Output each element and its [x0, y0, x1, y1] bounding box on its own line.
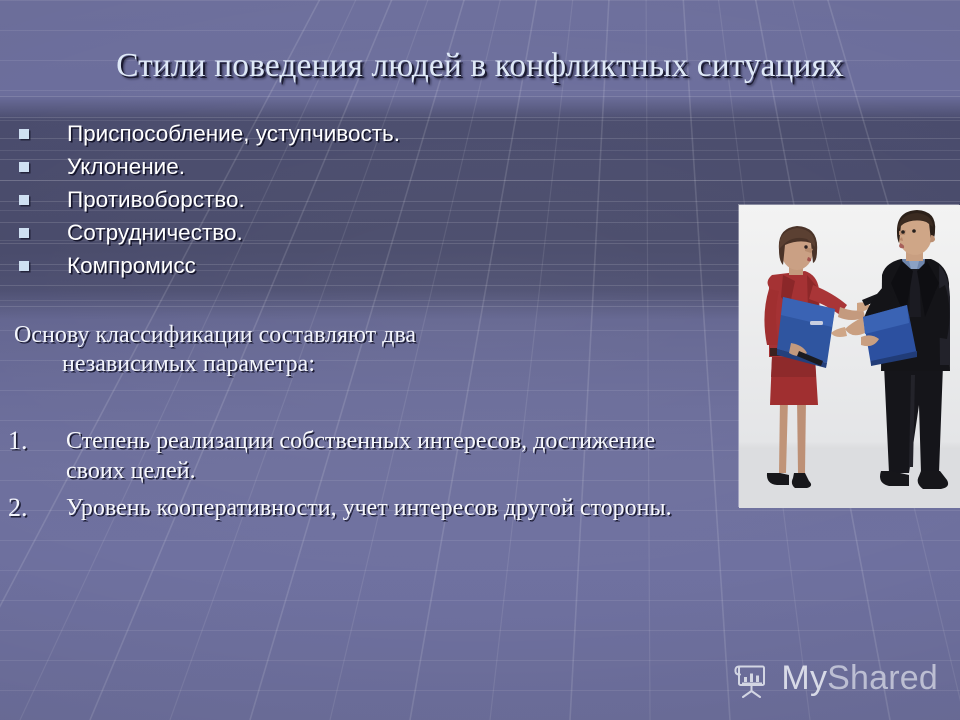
- paragraph-line-1: Основу классификации составляют два: [14, 322, 416, 348]
- list-item-label: Сотрудничество.: [67, 218, 243, 248]
- business-conflict-photo: [739, 205, 960, 508]
- bullet-list: Приспособление, уступчивость. Уклонение.…: [16, 119, 576, 284]
- bullet-square-icon: [19, 129, 29, 139]
- list-item-label: Уровень кооперативности, учет интересов …: [66, 493, 672, 523]
- bullet-square-icon: [19, 195, 29, 205]
- list-item-number: 2.: [8, 493, 66, 523]
- presentation-slide: Стили поведения людей в конфликтных ситу…: [0, 0, 960, 720]
- bullet-square-icon: [19, 261, 29, 271]
- list-item: 2. Уровень кооперативности, учет интерес…: [8, 493, 708, 523]
- page-title: Стили поведения людей в конфликтных ситу…: [0, 46, 960, 86]
- watermark-label: MyShared: [781, 661, 938, 695]
- watermark: MyShared: [732, 658, 938, 698]
- list-item-label: Приспособление, уступчивость.: [67, 119, 400, 149]
- list-item: Уклонение.: [16, 152, 576, 185]
- list-item-label: Противоборство.: [67, 185, 245, 215]
- watermark-brand-shared: Shared: [827, 659, 938, 697]
- list-item-number: 1.: [8, 426, 66, 456]
- list-item-label: Компромисс: [67, 251, 196, 281]
- business-conflict-illustration-icon: [739, 205, 960, 508]
- list-item: Приспособление, уступчивость.: [16, 119, 576, 152]
- list-item: 1. Степень реализации собственных интере…: [8, 426, 708, 486]
- watermark-brand-my: My: [781, 659, 827, 697]
- bullet-square-icon: [19, 228, 29, 238]
- list-item-label: Уклонение.: [67, 152, 185, 182]
- numbered-list: 1. Степень реализации собственных интере…: [8, 426, 708, 530]
- list-item: Компромисс: [16, 251, 576, 284]
- paragraph-line-2: независимых параметра:: [14, 350, 484, 379]
- presentation-chart-icon: [732, 658, 772, 698]
- list-item-label: Степень реализации собственных интересов…: [66, 426, 696, 486]
- bullet-square-icon: [19, 162, 29, 172]
- list-item: Противоборство.: [16, 185, 576, 218]
- list-item: Сотрудничество.: [16, 218, 576, 251]
- classification-paragraph: Основу классификации составляют два неза…: [14, 321, 484, 379]
